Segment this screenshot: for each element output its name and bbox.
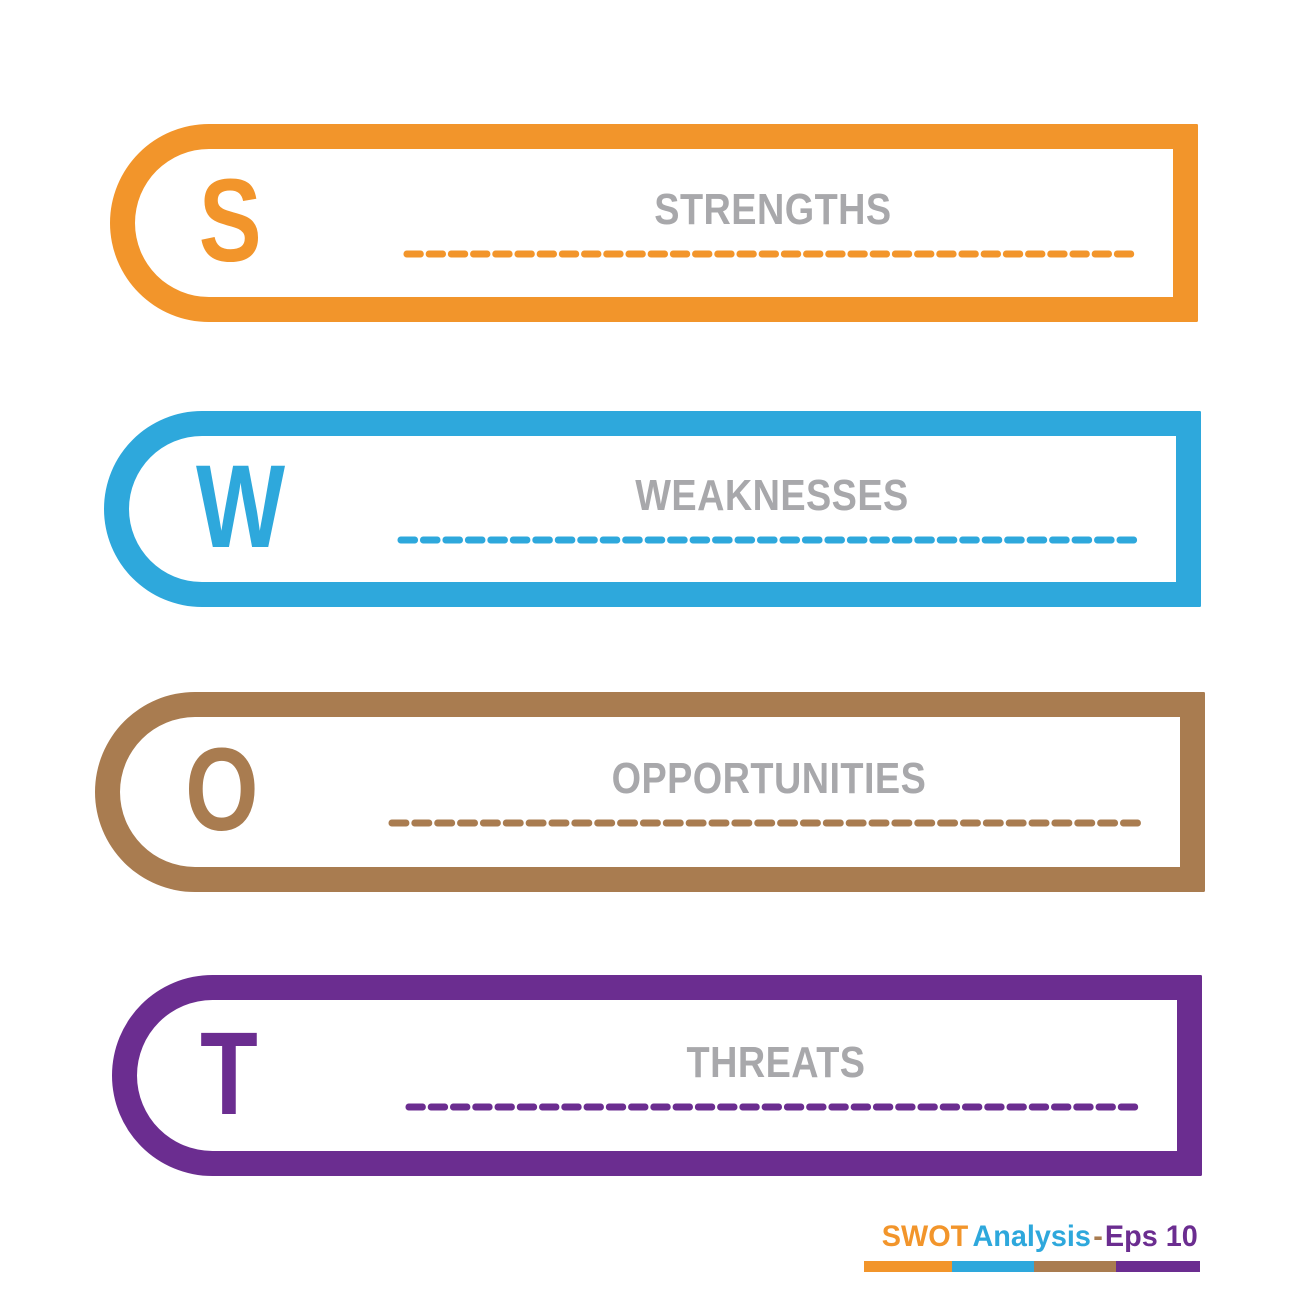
label-weaknesses: WEAKNESSES: [397, 474, 1146, 518]
footer-word-dash: -: [1093, 1222, 1103, 1252]
footer-branding: SWOT Analysis - Eps 10: [864, 1222, 1200, 1272]
swot-diagram-canvas: S STRENGTHS W WEAKNESSES O OPPO: [0, 0, 1300, 1300]
row-inner-weaknesses: W WEAKNESSES: [129, 436, 1176, 582]
dashed-writing-line-threats: [405, 1103, 1147, 1111]
row-inner-opportunities: O OPPORTUNITIES: [120, 717, 1180, 867]
label-block-strengths: STRENGTHS: [403, 188, 1143, 258]
letter-t: T: [193, 1017, 264, 1135]
footer-word-analysis: Analysis: [972, 1222, 1090, 1252]
label-threats: THREATS: [405, 1041, 1147, 1085]
swot-row-weaknesses[interactable]: W WEAKNESSES: [104, 411, 1201, 607]
row-inner-threats: T THREATS: [137, 1000, 1177, 1151]
dashed-writing-line-weaknesses: [397, 536, 1146, 544]
footer-bar-segment-strengths: [864, 1261, 952, 1272]
footer-word-swot: SWOT: [882, 1222, 968, 1252]
footer-bar-segment-opportunities: [1034, 1261, 1116, 1272]
label-block-threats: THREATS: [405, 1041, 1147, 1111]
footer-color-bar: [864, 1261, 1200, 1272]
footer-bar-segment-weaknesses: [952, 1261, 1034, 1272]
footer-title: SWOT Analysis - Eps 10: [864, 1222, 1200, 1252]
swot-row-threats[interactable]: T THREATS: [112, 975, 1202, 1176]
label-block-opportunities: OPPORTUNITIES: [388, 757, 1150, 827]
swot-row-strengths[interactable]: S STRENGTHS: [110, 124, 1198, 322]
label-strengths: STRENGTHS: [403, 188, 1143, 232]
footer-word-eps10: Eps 10: [1105, 1222, 1198, 1252]
swot-row-opportunities[interactable]: O OPPORTUNITIES: [95, 692, 1205, 892]
dashed-writing-line-opportunities: [388, 819, 1150, 827]
label-opportunities: OPPORTUNITIES: [388, 757, 1150, 801]
letter-w: W: [185, 450, 295, 568]
letter-s: S: [191, 164, 269, 282]
footer-bar-segment-threats: [1116, 1261, 1200, 1272]
letter-o: O: [176, 733, 267, 851]
dashed-writing-line-strengths: [403, 250, 1143, 258]
row-inner-strengths: S STRENGTHS: [135, 149, 1173, 297]
label-block-weaknesses: WEAKNESSES: [397, 474, 1146, 544]
